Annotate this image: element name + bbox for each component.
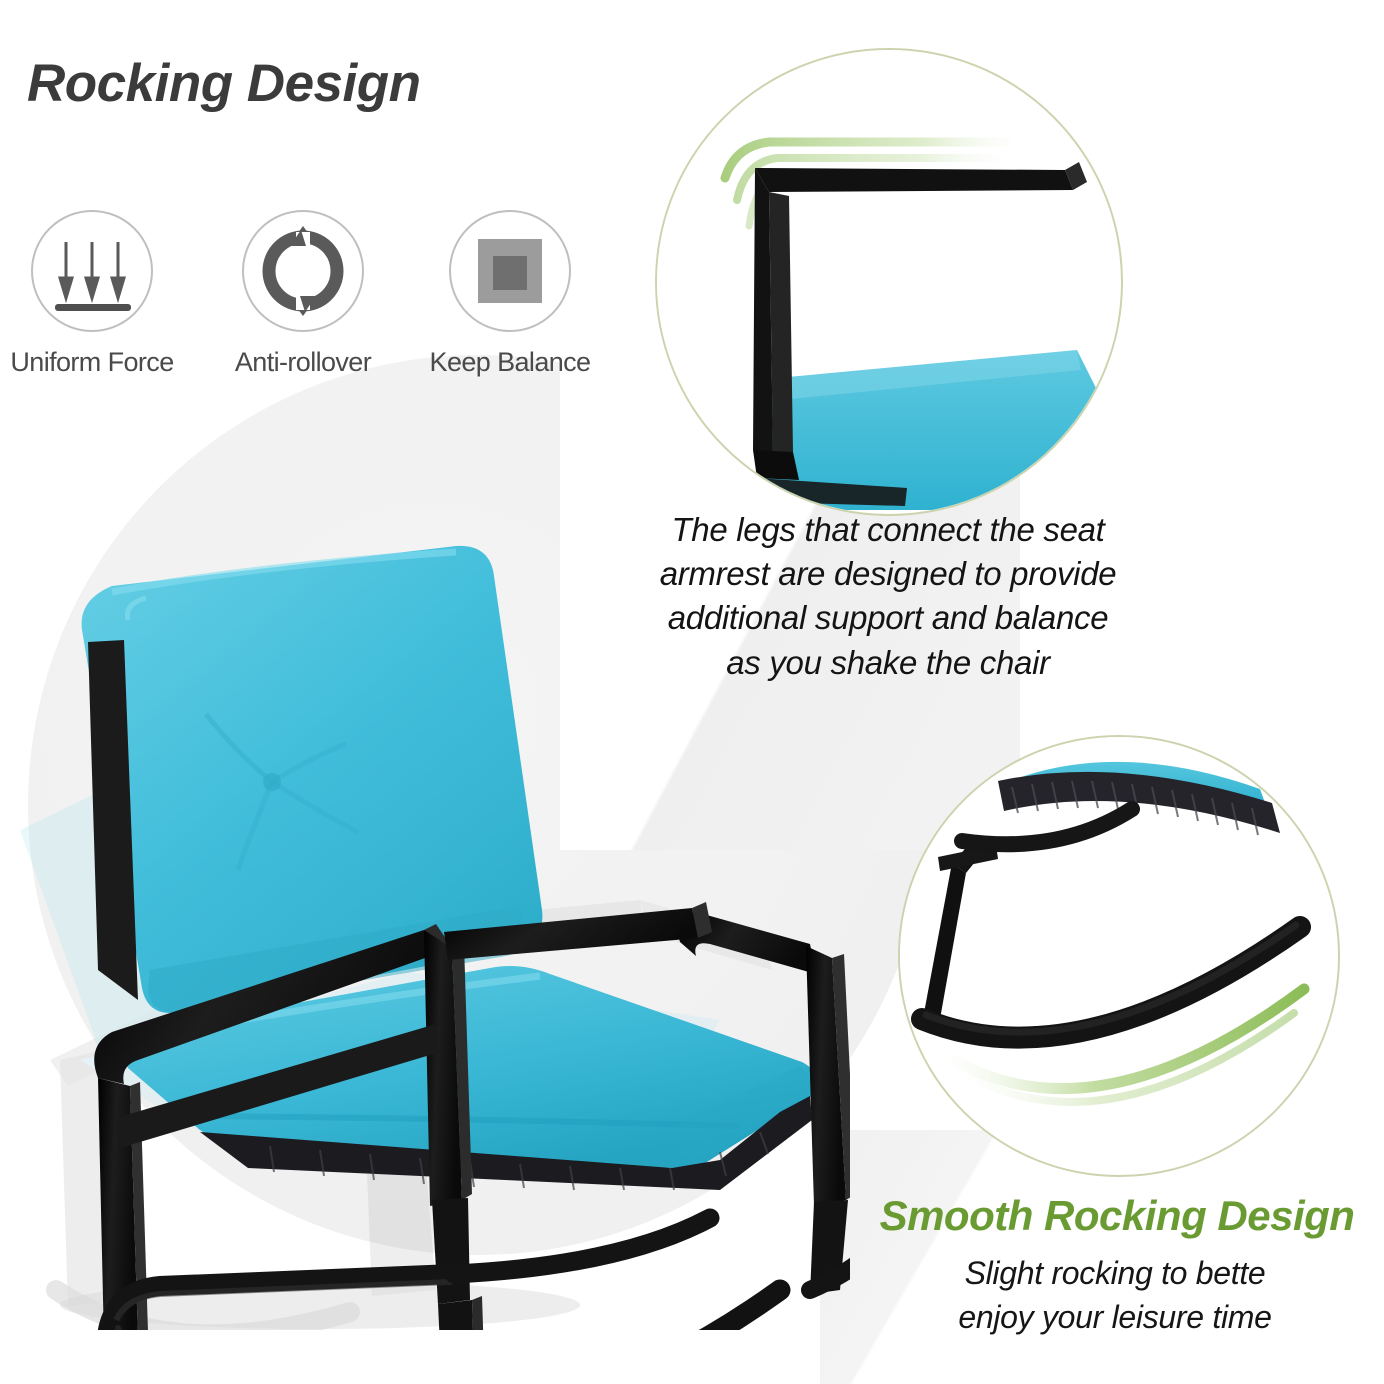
feature-label: Keep Balance [415,347,605,378]
downward-force-arrows-icon [31,210,153,332]
inset-armrest-leg-closeup [655,48,1123,516]
feature-item-uniform-force: Uniform Force [0,210,187,378]
feature-item-keep-balance: Keep Balance [415,210,605,378]
feature-label: Anti-rollover [208,347,398,378]
page-title: Rocking Design [27,53,421,114]
smooth-subtitle-line: Slight rocking to bette [880,1252,1350,1296]
nested-squares-icon [449,210,571,332]
circular-rotation-arrows-icon [242,210,364,332]
smooth-rocking-subtitle: Slight rocking to bette enjoy your leisu… [880,1252,1350,1339]
feature-item-anti-rollover: Anti-rollover [208,210,398,378]
smooth-subtitle-line: enjoy your leisure time [880,1296,1350,1340]
inset-rocker-base-closeup [898,735,1340,1177]
feature-list: Uniform Force Anti-rollover [0,210,620,395]
smooth-rocking-title: Smooth Rocking Design [852,1192,1382,1240]
infographic-canvas: Rocking Design Uniform Force [0,0,1384,1384]
product-image-rocking-chair [20,500,850,1330]
feature-label: Uniform Force [0,347,187,378]
